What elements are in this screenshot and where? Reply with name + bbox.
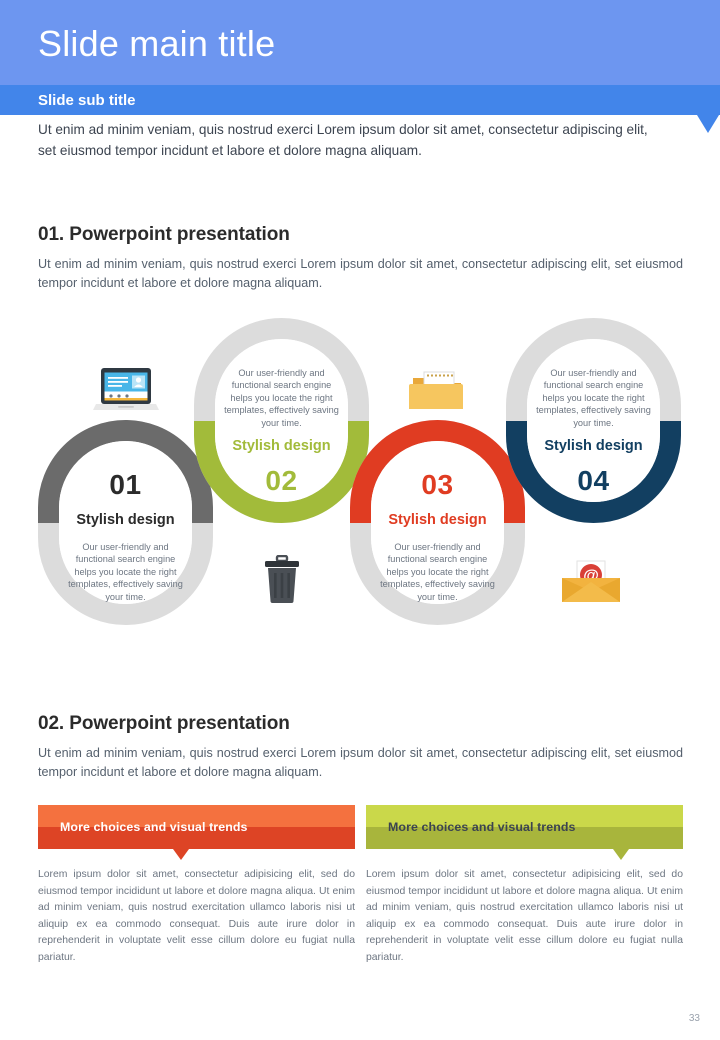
laptop-icon: [92, 366, 160, 414]
step-2-content: Our user-friendly and functional search …: [215, 339, 348, 502]
folder-icon: [408, 368, 466, 414]
process-infographic: 01 Stylish design Our user-friendly and …: [0, 300, 720, 660]
process-step-3[interactable]: 03 Stylish design Our user-friendly and …: [350, 420, 525, 625]
step-4-content: Our user-friendly and functional search …: [527, 339, 660, 502]
banner-1-body: Lorem ipsum dolor sit amet, consectetur …: [38, 867, 355, 966]
email-icon: @: [560, 558, 622, 606]
banner-1-notch-icon: [173, 849, 189, 860]
section-2-title: 02. Powerpoint presentation: [38, 713, 290, 735]
section-2-body: Ut enim ad minim veniam, quis nostrud ex…: [38, 744, 683, 782]
step-1-heading: Stylish design: [76, 511, 174, 529]
step-2-text: Our user-friendly and functional search …: [215, 367, 348, 429]
banner-2-body: Lorem ipsum dolor sit amet, consectetur …: [366, 867, 683, 966]
trash-icon: [263, 555, 301, 605]
step-4-number: 04: [577, 465, 609, 497]
step-3-number: 03: [421, 469, 453, 501]
banner-card-1[interactable]: More choices and visual trends: [38, 805, 355, 849]
step-1-content: 01 Stylish design Our user-friendly and …: [59, 441, 192, 604]
process-step-2[interactable]: Our user-friendly and functional search …: [194, 318, 369, 523]
banner-2-notch-icon: [613, 849, 629, 860]
step-2-heading: Stylish design: [232, 437, 330, 455]
step-4-heading: Stylish design: [544, 437, 642, 455]
header-description: Ut enim ad minim veniam, quis nostrud ex…: [38, 119, 663, 161]
slide-canvas: Slide main title Slide sub title Ut enim…: [0, 0, 720, 1040]
page-number: 33: [689, 1013, 700, 1024]
header-pointer-triangle-icon: [697, 115, 719, 133]
step-1-text: Our user-friendly and functional search …: [59, 541, 192, 603]
process-step-1[interactable]: 01 Stylish design Our user-friendly and …: [38, 420, 213, 625]
step-1-number: 01: [109, 469, 141, 501]
section-1-body: Ut enim ad minim veniam, quis nostrud ex…: [38, 255, 683, 293]
step-2-number: 02: [265, 465, 297, 497]
banner-card-2[interactable]: More choices and visual trends: [366, 805, 683, 849]
section-1-title: 01. Powerpoint presentation: [38, 224, 290, 246]
step-3-text: Our user-friendly and functional search …: [371, 541, 504, 603]
page-title: Slide main title: [38, 22, 275, 66]
page-subtitle: Slide sub title: [38, 92, 136, 110]
step-4-text: Our user-friendly and functional search …: [527, 367, 660, 429]
process-step-4[interactable]: Our user-friendly and functional search …: [506, 318, 681, 523]
step-3-content: 03 Stylish design Our user-friendly and …: [371, 441, 504, 604]
banner-1-label: More choices and visual trends: [60, 805, 248, 849]
step-3-heading: Stylish design: [388, 511, 486, 529]
banner-2-label: More choices and visual trends: [388, 805, 576, 849]
